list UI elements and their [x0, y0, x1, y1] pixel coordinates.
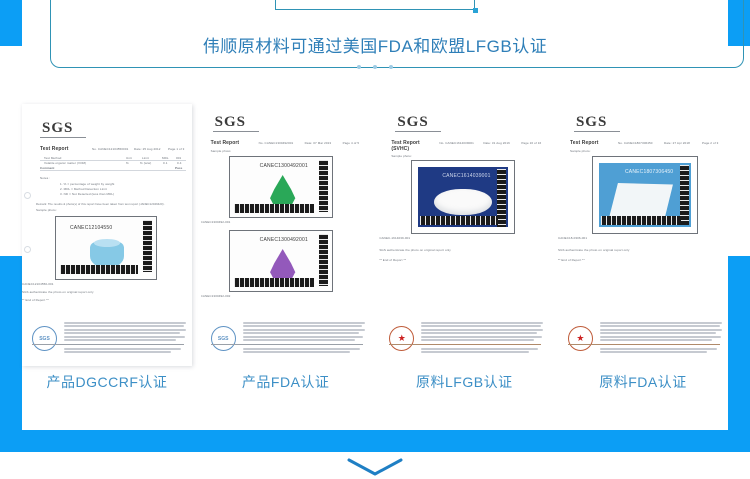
- note-item: 2. MDL = Method Detection Limit: [60, 187, 107, 191]
- sgs-logo: SGS: [215, 114, 246, 131]
- china-quality-stamp: ★: [568, 326, 593, 351]
- photo-code: CANEC1807306450: [625, 169, 673, 175]
- authenticate-note: SGS authenticate the photo on original r…: [379, 248, 451, 252]
- photo-caption: CANEC12104550-001: [22, 282, 54, 286]
- report-date: Date: 25 Aug 2012: [134, 147, 161, 151]
- photo-caption: CANEC-1614039-001: [379, 236, 410, 240]
- table-cell: %: [126, 161, 129, 165]
- certificate-card-1[interactable]: SGS Test Report No. CANEC12104550001 Dat…: [22, 104, 192, 404]
- authenticate-note: SGS authenticate the photo on original r…: [22, 290, 94, 294]
- ruler-vertical: [680, 165, 689, 225]
- footer-rule: [389, 344, 541, 345]
- certification-section: 权威认证机构 伟顺原材料可通过美国FDA和欧盟LFGB认证 SGS Test R…: [0, 0, 750, 479]
- report-number: No. CANEC1807306450: [618, 141, 653, 145]
- ruler-vertical: [319, 234, 328, 286]
- star-icon: ★: [576, 334, 584, 343]
- table-rule: [40, 170, 186, 171]
- page-number: Page 2 of 3: [702, 141, 718, 145]
- sgs-logo-underline: [213, 131, 259, 132]
- section-subtitle: 伟顺原材料可通过美国FDA和欧盟LFGB认证: [22, 32, 728, 57]
- report-number: No. CANEC1300492001: [259, 141, 294, 145]
- sample-object-pad: [434, 189, 492, 215]
- ruler-vertical: [143, 220, 152, 272]
- authenticate-note: SGS authenticate the photo on original r…: [558, 248, 630, 252]
- sgs-logo: SGS: [576, 114, 607, 131]
- rail-bottom-right: [728, 256, 750, 432]
- sgs-logo-underline: [395, 131, 441, 132]
- stamp-text: SGS: [218, 336, 229, 342]
- footer-contact-lines: [243, 348, 365, 355]
- certificate-image-1[interactable]: SGS Test Report No. CANEC12104550001 Dat…: [22, 104, 192, 366]
- photo-caption: CANEC1300492-001: [201, 220, 231, 224]
- ruler-vertical: [319, 160, 328, 212]
- photo-caption: CANEC1300492-002: [201, 294, 231, 298]
- report-date: Date: 27 Apr 2018: [664, 141, 690, 145]
- photo-code: CANEC1300492001: [260, 237, 308, 243]
- decorative-dots: [22, 58, 728, 76]
- section-header: 权威认证机构 伟顺原材料可通过美国FDA和欧盟LFGB认证: [22, 0, 728, 82]
- sample-photo-label: Sample photo:: [36, 208, 57, 212]
- certificate-image-4[interactable]: SGS Test Report No. CANEC1807306450 Date…: [558, 104, 728, 366]
- photo-code: CANEC1300492001: [260, 163, 308, 169]
- table-cell: 0.1: [163, 161, 167, 165]
- sgs-logo-underline: [40, 137, 86, 138]
- sgs-stamp: SGS: [32, 326, 57, 351]
- ruler-horizontal: [234, 204, 314, 213]
- page-number: Page 16 of 16: [521, 141, 541, 145]
- report-date: Date: 31 Aug 2016: [483, 141, 510, 145]
- certificate-card-3[interactable]: SGS Test Report (SVHC) No. CANEC16140390…: [379, 104, 549, 404]
- certificate-image-2[interactable]: SGS Test Report No. CANEC1300492001 Date…: [201, 104, 371, 366]
- remark-text: Remark: The results & photo(s) of this r…: [36, 202, 165, 206]
- footer-contact-lines: [421, 348, 543, 355]
- sample-photo-label: Sample photo:: [391, 154, 412, 158]
- certificate-footer: ★: [558, 318, 728, 362]
- sample-photo-green: CANEC1300492001: [229, 156, 333, 218]
- photo-code: CANEC1614039001: [442, 173, 490, 179]
- report-label: Test Report: [211, 140, 240, 146]
- caption-material-fda: 原料FDA认证: [558, 372, 728, 392]
- ruler-horizontal: [601, 216, 681, 225]
- report-number: No. CANEC12104550001: [92, 147, 128, 151]
- sample-photo-1: CANEC12104550: [55, 216, 157, 280]
- rail-top-right: [728, 0, 750, 46]
- ruler-horizontal: [420, 216, 498, 225]
- table-rule: [40, 160, 186, 161]
- sample-photo-4: CANEC1807306450: [592, 156, 698, 234]
- bottom-blue-bar: [0, 430, 750, 452]
- end-of-report-note: ** End of Report **: [379, 258, 406, 262]
- note-item: 3. ND = Not Detected (less than MDL): [60, 192, 114, 196]
- sample-photo-label: Sample photo:: [211, 149, 232, 153]
- table-cell: 0.4: [177, 161, 181, 165]
- rail-bottom-left: [0, 256, 22, 432]
- sgs-logo-underline: [574, 131, 620, 132]
- table-row-label: Volatile organic matter (VOM): [44, 161, 86, 165]
- page-number: Page 4 of 5: [343, 141, 359, 145]
- report-number: No. CANEC1614039001: [439, 141, 474, 145]
- photo-caption: CANEC18-0306-001: [558, 236, 587, 240]
- sample-photo-3: CANEC1614039001: [411, 160, 515, 234]
- sgs-logo: SGS: [42, 120, 73, 137]
- report-sublabel: (SVHC): [391, 146, 409, 152]
- sgs-logo: SGS: [397, 114, 428, 131]
- stamp-text: SGS: [39, 336, 50, 342]
- caption-product-dgccrf: 产品DGCCRF认证: [22, 372, 192, 392]
- certificate-image-3[interactable]: SGS Test Report (SVHC) No. CANEC16140390…: [379, 104, 549, 366]
- end-of-report-note: ** End of Report **: [22, 298, 49, 302]
- chevron-down-icon[interactable]: [347, 458, 403, 478]
- footer-text-lines: [421, 322, 543, 342]
- footer-contact-lines: [600, 348, 722, 355]
- certificate-captions: 产品DGCCRF认证 产品FDA认证 原料LFGB认证 原料FDA认证: [22, 372, 728, 392]
- ruler-vertical: [497, 169, 506, 227]
- dot: [389, 65, 393, 69]
- rail-top-left: [0, 0, 22, 46]
- certificate-card-4[interactable]: SGS Test Report No. CANEC1807306450 Date…: [558, 104, 728, 404]
- section-title-box: 权威认证机构: [275, 0, 475, 10]
- note-item: 1. % = percentage of weight by weight: [60, 182, 114, 186]
- end-of-report-note: ** End of Report **: [558, 258, 585, 262]
- footer-rule: [32, 344, 184, 345]
- certificate-footer: ★: [379, 318, 549, 362]
- notes-title: Notes :: [40, 176, 50, 180]
- certificate-card-2[interactable]: SGS Test Report No. CANEC1300492001 Date…: [201, 104, 371, 404]
- dot: [357, 65, 361, 69]
- footer-text-lines: [600, 322, 722, 342]
- certificate-footer: SGS: [201, 318, 371, 362]
- caption-product-fda: 产品FDA认证: [201, 372, 371, 392]
- footer-contact-lines: [64, 348, 186, 355]
- star-icon: ★: [398, 334, 406, 343]
- report-label: Test Report: [570, 140, 599, 146]
- sgs-stamp: SGS: [211, 326, 236, 351]
- ruler-horizontal: [60, 265, 138, 274]
- caption-material-lfgb: 原料LFGB认证: [379, 372, 549, 392]
- certificate-footer: SGS: [22, 318, 192, 362]
- dot: [373, 65, 377, 69]
- report-label: Test Report: [40, 146, 69, 152]
- footer-rule: [568, 344, 720, 345]
- footer-rule: [211, 344, 363, 345]
- footer-text-lines: [64, 322, 186, 342]
- punch-hole: [24, 246, 31, 253]
- table-cell: % (w/w): [140, 161, 151, 165]
- footer-text-lines: [243, 322, 365, 342]
- title-corner-tick: [473, 8, 478, 13]
- china-quality-stamp: ★: [389, 326, 414, 351]
- photo-code: CANEC12104550: [70, 225, 112, 231]
- report-date: Date: 07 Mar 2013: [305, 141, 332, 145]
- page-number: Page 1 of 3: [168, 147, 184, 151]
- ruler-horizontal: [234, 278, 314, 287]
- sample-photo-label: Sample photo:: [570, 149, 591, 153]
- certificate-gallery: SGS Test Report No. CANEC12104550001 Dat…: [22, 104, 728, 404]
- punch-hole: [24, 192, 31, 199]
- sample-photo-purple: CANEC1300492001: [229, 230, 333, 292]
